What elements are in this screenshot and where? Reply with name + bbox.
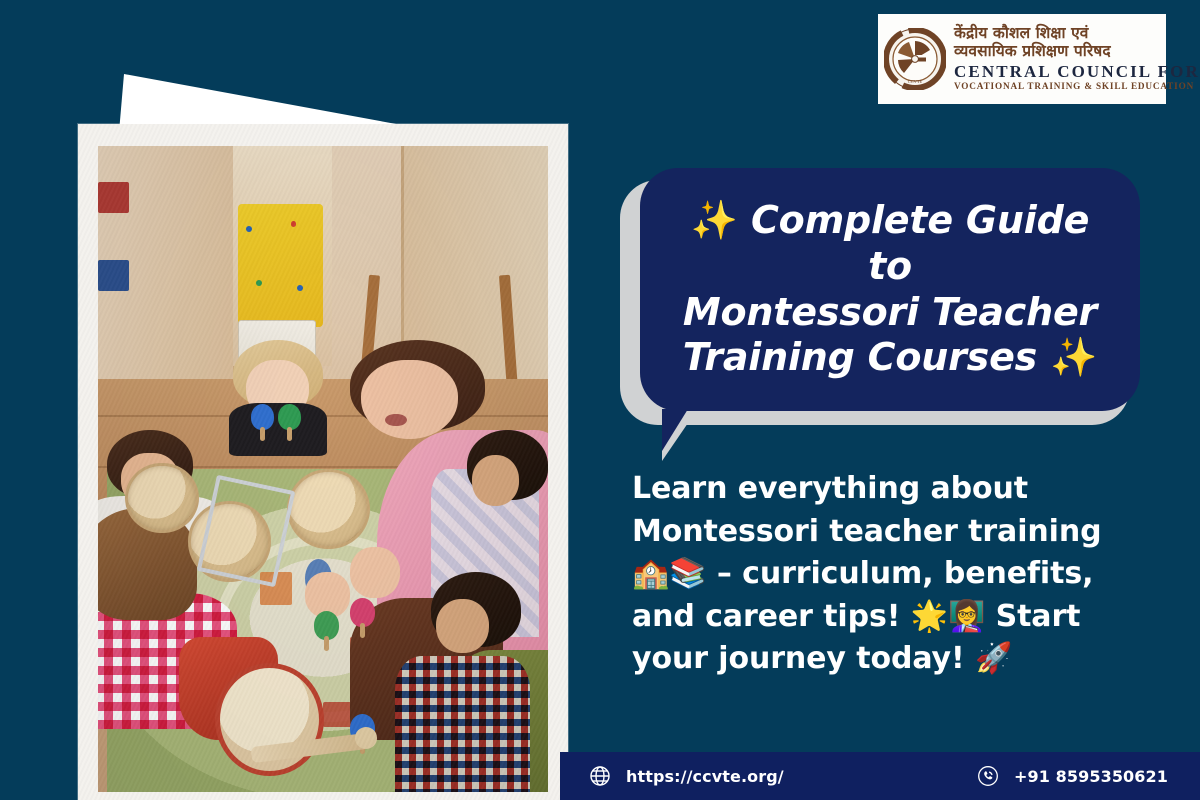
school-icon: 🏫 — [632, 556, 669, 591]
phone-number: +91 8595350621 — [1014, 767, 1168, 786]
brand-logo: CCVTE केंद्रीय कौशल शिक्षा एवं व्यवसायिक… — [878, 14, 1166, 104]
photo-frame — [78, 124, 568, 800]
title-line-2: Montessori Teacher — [683, 290, 1097, 334]
website-url: https://ccvte.org/ — [626, 767, 784, 786]
glowing-star-icon: 🌟 — [911, 599, 948, 634]
phone-link[interactable]: +91 8595350621 — [976, 764, 1168, 788]
title-line-3: Training Courses — [683, 335, 1037, 379]
ccvte-seal-icon: CCVTE — [884, 28, 946, 90]
body-line-4: and career tips! — [632, 599, 900, 634]
phone-circle-icon — [976, 764, 1000, 788]
sparkle-right-icon: ✨ — [1050, 335, 1097, 379]
logo-text-block: केंद्रीय कौशल शिक्षा एवं व्यवसायिक प्रशि… — [954, 26, 1200, 91]
globe-icon — [588, 764, 612, 788]
logo-hindi-line-1: केंद्रीय कौशल शिक्षा एवं — [954, 26, 1200, 42]
body-line-5: Start — [996, 599, 1081, 634]
body-line-1: Learn everything about — [632, 471, 1028, 506]
logo-english-line-1: CENTRAL COUNCIL FOR — [954, 63, 1200, 80]
body-line-6: your journey today! — [632, 641, 965, 676]
website-link[interactable]: https://ccvte.org/ — [588, 764, 784, 788]
body-line-2: Montessori teacher training — [632, 514, 1101, 549]
title-line-1: Complete Guide to — [751, 198, 1089, 288]
classroom-photo — [98, 146, 548, 792]
title-speech-bubble: ✨ Complete Guide to Montessori Teacher T… — [640, 168, 1140, 411]
woman-teacher-icon: 👩‍🏫 — [948, 599, 985, 634]
body-line-3: – curriculum, benefits, — [717, 556, 1094, 591]
books-icon: 📚 — [669, 556, 706, 591]
contact-footer-bar: https://ccvte.org/ +91 8595350621 — [560, 752, 1200, 800]
logo-hindi-line-2: व्यवसायिक प्रशिक्षण परिषद — [954, 44, 1200, 60]
logo-english-line-2: VOCATIONAL TRAINING & SKILL EDUCATION — [954, 82, 1200, 91]
sparkle-left-icon: ✨ — [691, 198, 738, 242]
poster-title: ✨ Complete Guide to Montessori Teacher T… — [666, 198, 1114, 380]
rocket-icon: 🚀 — [975, 641, 1012, 676]
poster-body-text: Learn everything about Montessori teache… — [632, 468, 1132, 681]
svg-text:CCVTE: CCVTE — [908, 79, 923, 84]
poster-canvas: CCVTE केंद्रीय कौशल शिक्षा एवं व्यवसायिक… — [0, 0, 1200, 800]
